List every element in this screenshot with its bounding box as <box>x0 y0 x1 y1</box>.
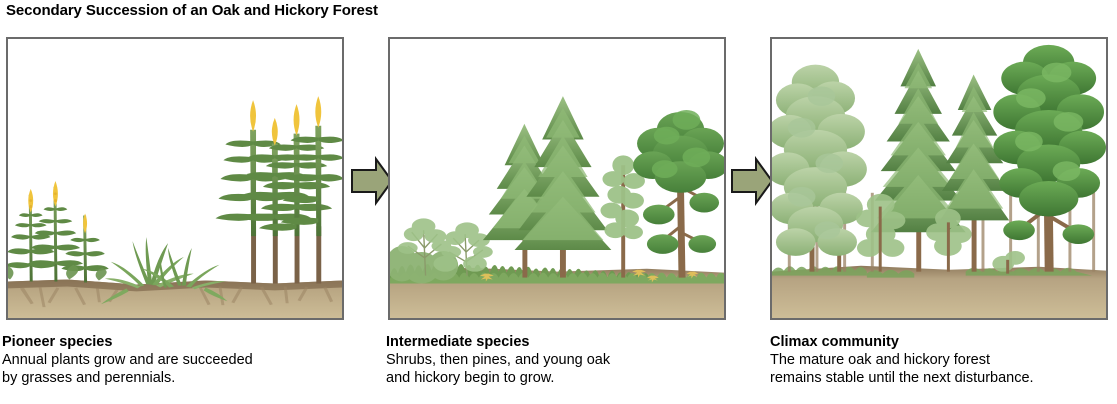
panel-pioneer-species <box>6 37 344 320</box>
page-title: Secondary Succession of an Oak and Hicko… <box>6 2 378 19</box>
caption-title: Intermediate species <box>386 334 734 351</box>
caption-title: Pioneer species <box>2 334 350 351</box>
soil-layer <box>8 280 342 318</box>
caption-body: The mature oak and hickory forest remain… <box>770 351 1117 387</box>
arrow-right-icon <box>730 156 774 206</box>
intermediate-scene <box>390 39 724 318</box>
tree-mature-broadleaf-left <box>772 65 867 272</box>
caption-body: Shrubs, then pines, and young oak and hi… <box>386 351 734 387</box>
caption-intermediate-species: Intermediate species Shrubs, then pines,… <box>386 334 734 387</box>
pioneer-scene <box>8 39 342 318</box>
panel-climax-community <box>770 37 1108 320</box>
succession-figure: Secondary Succession of an Oak and Hicko… <box>0 0 1117 404</box>
caption-title: Climax community <box>770 334 1117 351</box>
succession-arrow-2 <box>730 156 774 206</box>
climax-scene <box>772 39 1106 318</box>
panel-intermediate-species <box>388 37 726 320</box>
caption-body: Annual plants grow and are succeeded by … <box>2 351 350 387</box>
caption-climax-community: Climax community The mature oak and hick… <box>770 334 1117 387</box>
tree-mature-oak-right <box>993 45 1106 272</box>
caption-pioneer-species: Pioneer species Annual plants grow and a… <box>2 334 350 387</box>
